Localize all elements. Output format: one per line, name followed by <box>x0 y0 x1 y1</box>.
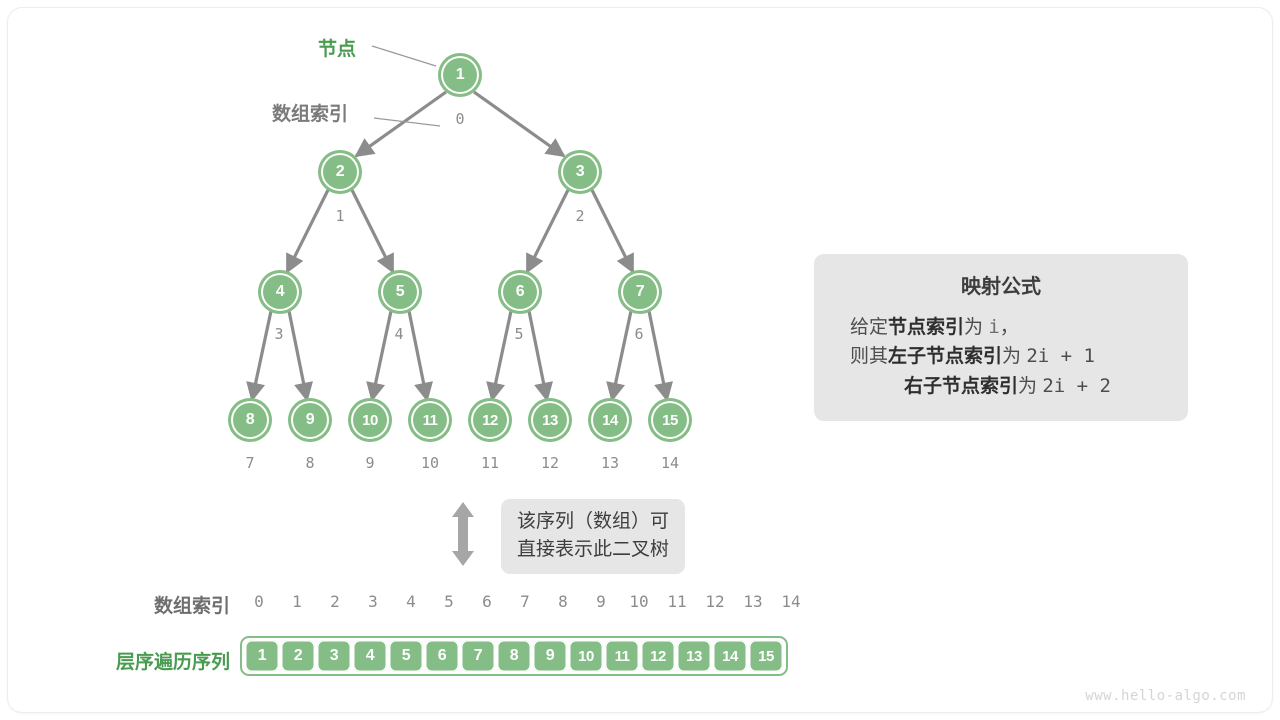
tree-node-7[interactable]: 7 <box>621 273 659 311</box>
tree-node-9[interactable]: 9 <box>291 401 329 439</box>
array-index-cell: 5 <box>430 592 468 611</box>
array-index-cell: 6 <box>468 592 506 611</box>
tree-node-15[interactable]: 15 <box>651 401 689 439</box>
formula-l1-post: ， <box>1000 317 1019 338</box>
array-index-cell: 10 <box>620 592 658 611</box>
watermark: www.hello-algo.com <box>1085 688 1246 704</box>
tree-node-3[interactable]: 3 <box>561 153 599 191</box>
array-index-cell: 12 <box>696 592 734 611</box>
tree-node-12[interactable]: 12 <box>471 401 509 439</box>
array-index-cell: 7 <box>506 592 544 611</box>
array-cell[interactable]: 8 <box>497 640 531 672</box>
tree-node-2[interactable]: 2 <box>321 153 359 191</box>
tree-node-4[interactable]: 4 <box>261 273 299 311</box>
formula-line-3: 右子节点索引为 2i + 2 <box>832 372 1170 401</box>
node-index-7: 7 <box>230 454 270 472</box>
formula-l2-bold: 左子节点索引 <box>888 346 1002 367</box>
formula-l2-mid: 为 <box>1002 346 1021 367</box>
formula-l2-pre: 则其 <box>850 346 888 367</box>
array-cell[interactable]: 5 <box>389 640 423 672</box>
array-cell[interactable]: 4 <box>353 640 387 672</box>
callout-node: 节点 <box>318 34 356 61</box>
array-index-cell: 1 <box>278 592 316 611</box>
node-index-6: 6 <box>619 325 659 343</box>
formula-l3-expr: 2i + 2 <box>1042 375 1111 397</box>
array-index-cell: 2 <box>316 592 354 611</box>
node-index-3: 3 <box>259 325 299 343</box>
node-index-10: 10 <box>410 454 450 472</box>
array-cell[interactable]: 12 <box>641 640 675 672</box>
callout-array-index: 数组索引 <box>272 99 348 126</box>
array-index-cell: 9 <box>582 592 620 611</box>
level-order-array: 1 2 3 4 5 6 7 8 9 10 11 12 13 14 15 <box>240 636 788 676</box>
mapping-formula-panel: 映射公式 给定节点索引为 i， 则其左子节点索引为 2i + 1 右子节点索引为… <box>814 254 1188 421</box>
array-cell[interactable]: 6 <box>425 640 459 672</box>
array-cell[interactable]: 15 <box>749 640 783 672</box>
array-index-cell: 14 <box>772 592 810 611</box>
note-line-1: 该序列（数组）可 <box>517 508 669 536</box>
array-cell[interactable]: 9 <box>533 640 567 672</box>
array-index-cell: 8 <box>544 592 582 611</box>
array-index-cell: 0 <box>240 592 278 611</box>
formula-l1-var: i <box>988 316 999 338</box>
array-index-cell: 11 <box>658 592 696 611</box>
tree-node-6[interactable]: 6 <box>501 273 539 311</box>
formula-l1-bold: 节点索引 <box>888 317 964 338</box>
node-index-14: 14 <box>650 454 690 472</box>
array-index-cell: 4 <box>392 592 430 611</box>
level-order-label: 层序遍历序列 <box>66 647 230 674</box>
tree-node-1[interactable]: 1 <box>441 56 479 94</box>
note-line-2: 直接表示此二叉树 <box>517 536 669 564</box>
sequence-note-box: 该序列（数组）可 直接表示此二叉树 <box>501 499 685 574</box>
diagram-canvas: 节点 数组索引 1 0 2 1 3 2 4 3 5 4 6 5 7 6 8 7 … <box>0 0 1280 720</box>
tree-node-5[interactable]: 5 <box>381 273 419 311</box>
node-index-8: 8 <box>290 454 330 472</box>
formula-l1-pre: 给定 <box>850 317 888 338</box>
node-index-12: 12 <box>530 454 570 472</box>
node-index-5: 5 <box>499 325 539 343</box>
node-index-13: 13 <box>590 454 630 472</box>
bottom-index-label: 数组索引 <box>106 591 230 618</box>
tree-node-13[interactable]: 13 <box>531 401 569 439</box>
array-cell[interactable]: 11 <box>605 640 639 672</box>
node-index-2: 2 <box>560 207 600 225</box>
formula-title: 映射公式 <box>832 270 1170 299</box>
array-cell[interactable]: 7 <box>461 640 495 672</box>
node-index-9: 9 <box>350 454 390 472</box>
tree-node-8[interactable]: 8 <box>231 401 269 439</box>
array-cell[interactable]: 13 <box>677 640 711 672</box>
node-index-11: 11 <box>470 454 510 472</box>
array-cell[interactable]: 10 <box>569 640 603 672</box>
formula-line-1: 给定节点索引为 i， <box>832 313 1170 342</box>
formula-l1-mid: 为 <box>964 317 983 338</box>
formula-l3-bold: 右子节点索引 <box>904 376 1018 397</box>
formula-l2-expr: 2i + 1 <box>1026 345 1095 367</box>
array-cell[interactable]: 14 <box>713 640 747 672</box>
tree-node-10[interactable]: 10 <box>351 401 389 439</box>
formula-line-2: 则其左子节点索引为 2i + 1 <box>832 342 1170 371</box>
node-index-1: 1 <box>320 207 360 225</box>
array-index-cell: 3 <box>354 592 392 611</box>
node-index-0: 0 <box>440 110 480 128</box>
tree-node-14[interactable]: 14 <box>591 401 629 439</box>
array-index-row: 0 1 2 3 4 5 6 7 8 9 10 11 12 13 14 <box>240 592 810 611</box>
tree-node-11[interactable]: 11 <box>411 401 449 439</box>
array-cell[interactable]: 1 <box>245 640 279 672</box>
array-index-cell: 13 <box>734 592 772 611</box>
formula-l3-mid: 为 <box>1018 376 1037 397</box>
node-index-4: 4 <box>379 325 419 343</box>
array-cell[interactable]: 2 <box>281 640 315 672</box>
array-cell[interactable]: 3 <box>317 640 351 672</box>
